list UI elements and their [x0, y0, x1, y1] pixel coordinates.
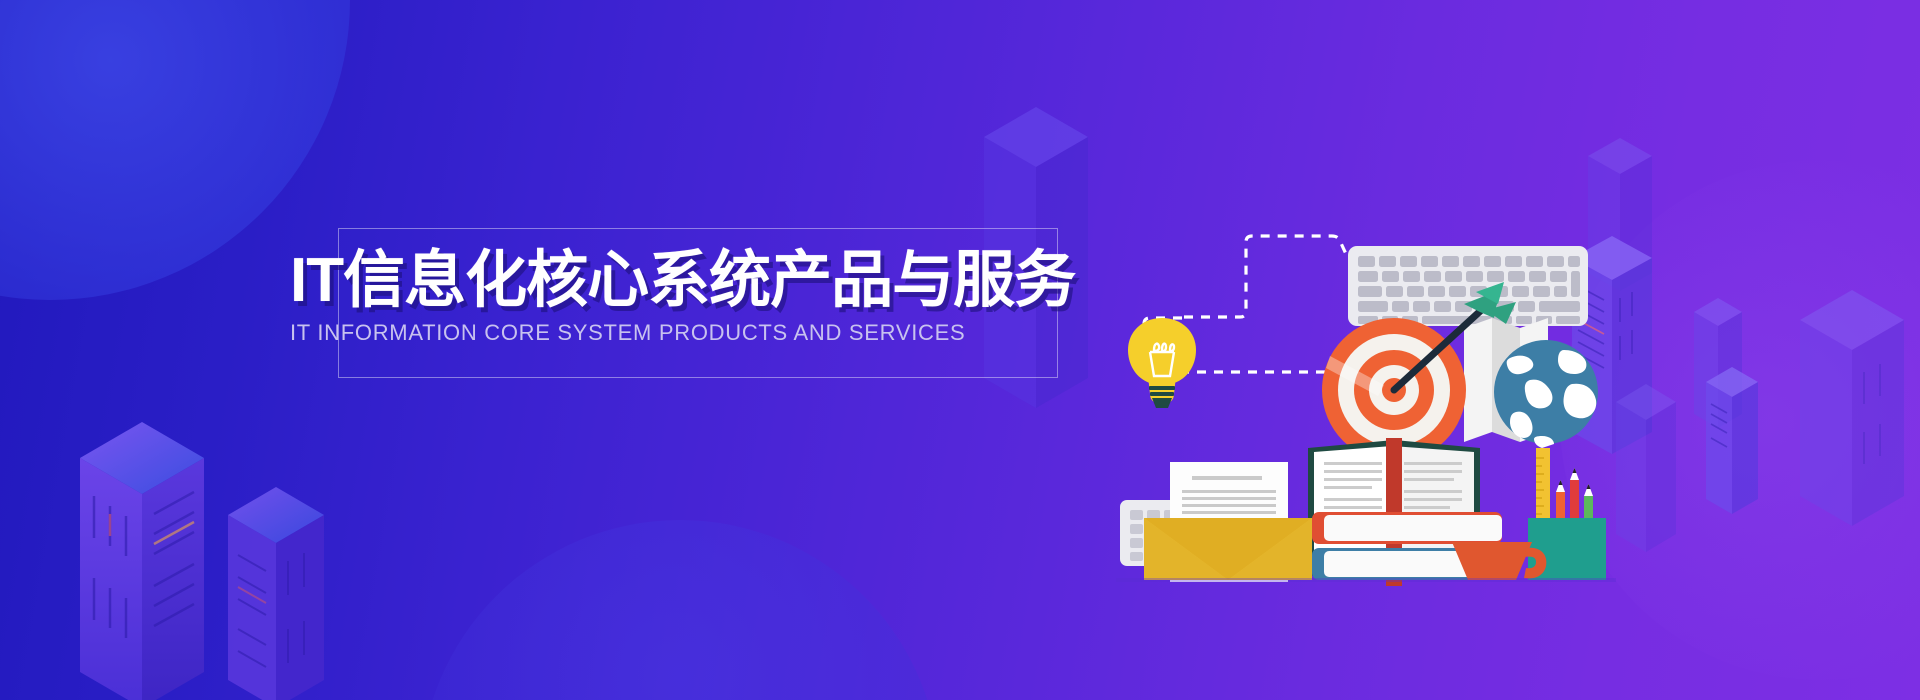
- building-left-tall: [80, 418, 250, 700]
- keyboard-small-icon: [1120, 500, 1228, 566]
- envelope-icon: [1144, 518, 1312, 580]
- building-right-d: [1706, 364, 1796, 529]
- hero-text-block: IT信息化核心系统产品与服务 IT INFORMATION CORE SYSTE…: [338, 228, 1058, 378]
- building-right-f: [1616, 380, 1716, 570]
- hero-banner: IT信息化核心系统产品与服务 IT INFORMATION CORE SYSTE…: [0, 0, 1920, 700]
- page-title: IT信息化核心系统产品与服务: [290, 250, 1110, 312]
- pencils-icon: [1556, 468, 1593, 558]
- page-subtitle: IT INFORMATION CORE SYSTEM PRODUCTS AND …: [290, 320, 1110, 346]
- keyboard-large-icon: [1348, 246, 1588, 326]
- document-bar-chart-icon: [1182, 522, 1249, 558]
- folded-map-icon: [1464, 318, 1548, 442]
- arrow-icon: [1394, 282, 1516, 390]
- open-book-icon: [1308, 438, 1480, 586]
- dashed-connector-icon: [1144, 236, 1346, 372]
- document-sheet-icon: [1170, 462, 1288, 582]
- lightbulb-icon: [1128, 318, 1196, 408]
- ruler-icon: [1536, 448, 1550, 558]
- building-right-b: [1572, 232, 1692, 472]
- book-stack-red-icon: [1312, 512, 1502, 544]
- ground-shadow: [1116, 578, 1616, 582]
- globe-icon: [1494, 340, 1598, 448]
- building-right-e: [1800, 286, 1920, 551]
- building-left-short: [228, 483, 358, 700]
- pencil-holder-icon: [1528, 448, 1606, 580]
- book-stack-blue-icon: [1312, 548, 1502, 580]
- building-right-a: [1588, 136, 1688, 291]
- glow-circle-bottom-center: [420, 520, 940, 700]
- target-bullseye-icon: [1322, 318, 1466, 462]
- building-right-c: [1694, 296, 1764, 441]
- coffee-cup-icon: [1452, 542, 1546, 580]
- hero-illustration: [1132, 200, 1652, 580]
- glow-circle-right: [1560, 160, 1920, 680]
